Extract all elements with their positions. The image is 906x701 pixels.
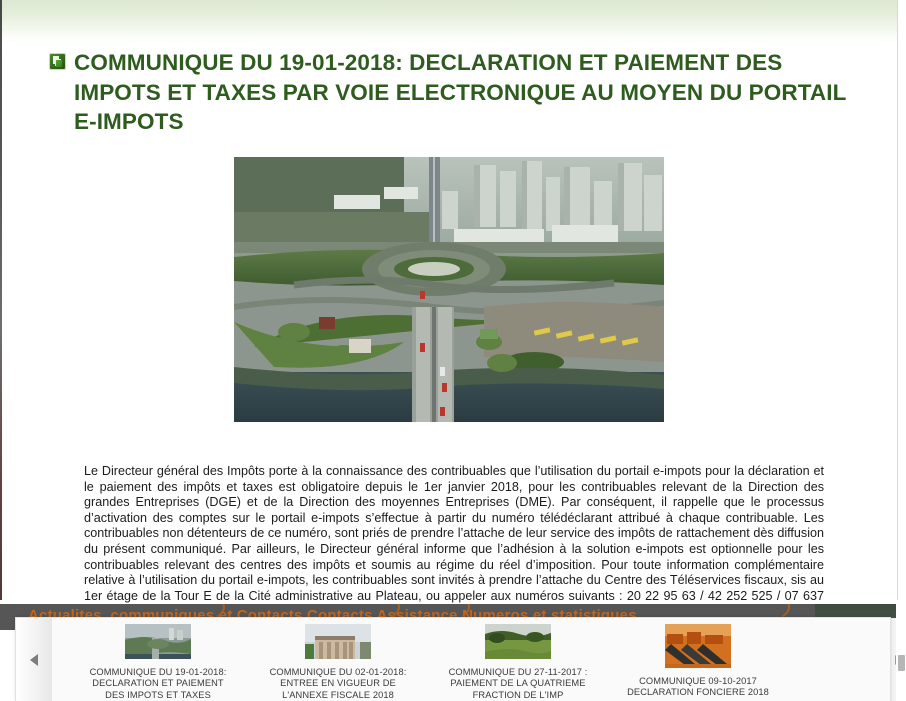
page-scrollbar-track[interactable]	[896, 604, 906, 701]
carousel-item-4[interactable]: COMMUNIQUE 09-10-2017 DECLARATION FONCIE…	[608, 618, 788, 701]
hero-image-wrap	[40, 157, 858, 422]
page-root: COMMUNIQUE DU 19-01-2018: DECLARATION ET…	[0, 0, 906, 701]
top-gradient-banner	[0, 0, 906, 44]
carousel-thumb-image-3	[485, 624, 551, 659]
page-scrollbar-thumb[interactable]	[898, 655, 905, 671]
news-carousel-track: COMMUNIQUE DU 19-01-2018: DECLARATION ET…	[16, 618, 890, 701]
carousel-thumb-image-4	[665, 624, 731, 668]
page-title: COMMUNIQUE DU 19-01-2018: DECLARATION ET…	[74, 48, 858, 137]
right-page-margin	[898, 0, 906, 600]
building-thumb	[305, 624, 371, 659]
carousel-thumb-image-1	[125, 624, 191, 659]
carousel-item-2[interactable]: COMMUNIQUE DU 02-01-2018: ENTREE EN VIGU…	[248, 618, 428, 701]
carousel-item-3[interactable]: COMMUNIQUE DU 27-11-2017 : PAIEMENT DE L…	[428, 618, 608, 701]
field-thumb	[485, 624, 551, 659]
document-icon	[50, 54, 65, 69]
carousel-caption-3: COMMUNIQUE DU 27-11-2017 : PAIEMENT DE L…	[443, 667, 593, 701]
article: COMMUNIQUE DU 19-01-2018: DECLARATION ET…	[0, 44, 898, 620]
rooftops-thumb	[665, 624, 731, 668]
aerial-city-thumb	[125, 624, 191, 659]
hero-image	[234, 157, 664, 422]
article-header: COMMUNIQUE DU 19-01-2018: DECLARATION ET…	[40, 44, 858, 137]
chevron-left-icon	[30, 654, 38, 666]
news-carousel: COMMUNIQUE DU 19-01-2018: DECLARATION ET…	[15, 617, 891, 701]
carousel-prev-button[interactable]	[16, 618, 52, 701]
carousel-caption-2: COMMUNIQUE DU 02-01-2018: ENTREE EN VIGU…	[263, 667, 413, 701]
carousel-caption-4: COMMUNIQUE 09-10-2017 DECLARATION FONCIE…	[623, 676, 773, 699]
aerial-city-illustration	[234, 157, 664, 422]
article-body: Le Directeur général des Impôts porte à …	[40, 464, 830, 620]
carousel-thumb-image-2	[305, 624, 371, 659]
carousel-item-1[interactable]: COMMUNIQUE DU 19-01-2018: DECLARATION ET…	[68, 618, 248, 701]
carousel-caption-1: COMMUNIQUE DU 19-01-2018: DECLARATION ET…	[83, 667, 233, 701]
